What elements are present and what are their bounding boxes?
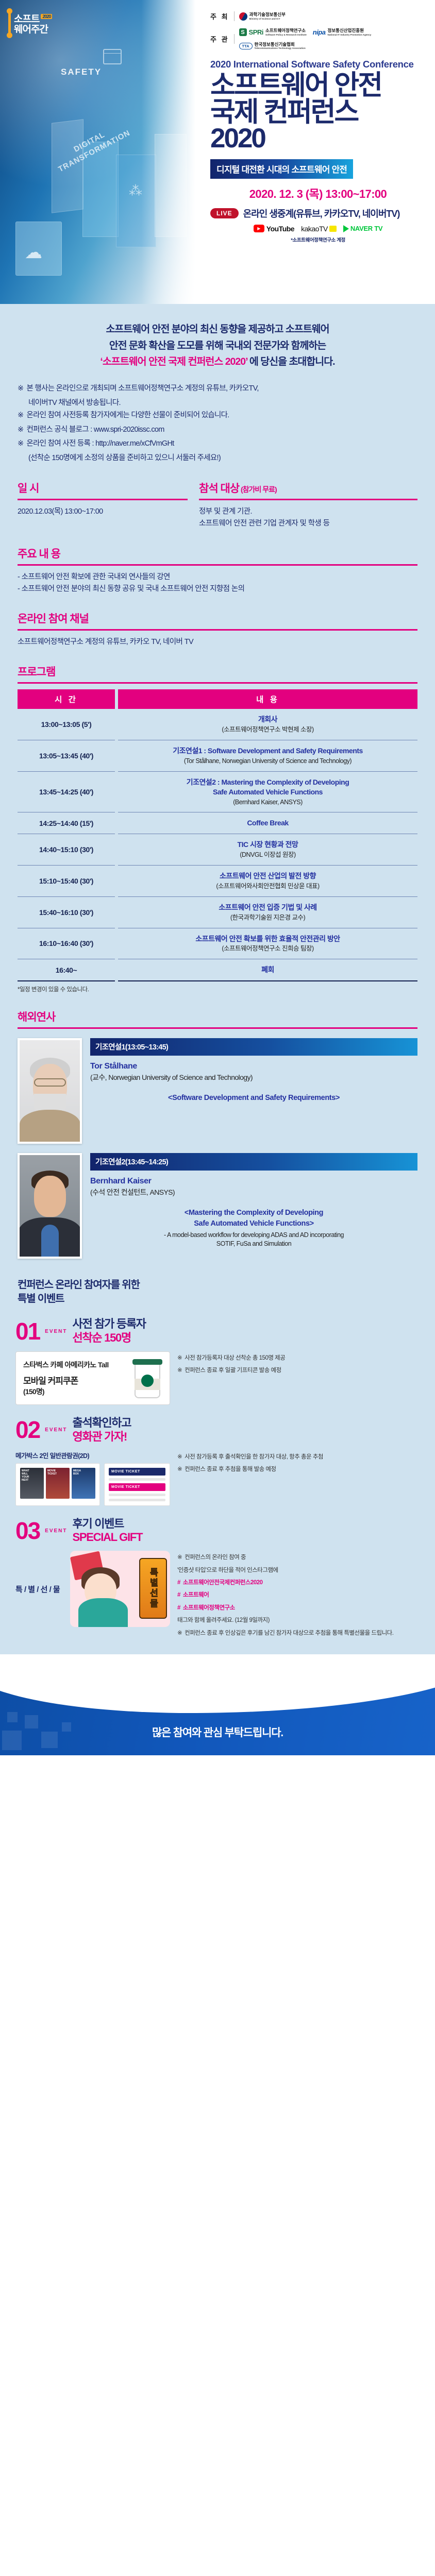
program-session-title: 기조연설1 : Software Development and Safety … [121,746,414,756]
host-logos: 과학기술정보통신부 Ministry of Science and ICT [239,12,286,21]
program-session-speaker: (소프트웨어정책연구소 진희승 팀장) [121,944,414,953]
footer-message: 많은 참여와 관심 부탁드립니다. [0,1724,435,1740]
host-label: 주 최 [210,11,235,21]
logo-spri: S SPRi 소프트웨어정책연구소 Software Policy & Rese… [239,28,307,36]
conference-poster: 소프트2020 웨어주간 SAFETY DIGITAL TRANSFORMATI… [0,0,435,1755]
logo-mosit-en: Ministry of Science and ICT [249,18,286,20]
program-time-cell: 13:05~13:45 (40') [18,740,116,771]
logo-nipa-ko: 정보통신산업진흥원 [328,28,372,33]
taegeuk-icon [239,12,247,21]
movie-poster-icon: MEGABOX [72,1468,95,1499]
note-text: 컨퍼런스 종료 후 인상깊은 후기를 남긴 참가자 대상으로 추첨을 통해 특별… [185,1629,393,1638]
logo-tta-ko: 한국정보통신기술협회 [255,42,306,47]
event-note: ※ 컨퍼런스 종료 후 인상깊은 후기를 남긴 참가자 대상으로 추첨을 통해 … [177,1629,420,1638]
logo-kakaotv[interactable]: kakaoTV [301,225,337,233]
event-heading: 출석확인하고 영화관 가자! [73,1416,131,1444]
event-heading-line-2: 선착순 150명 [73,1331,131,1344]
event-header: 03 EVENT 후기 이벤트 SPECIAL GIFT [15,1517,420,1545]
program-col-content: 내 용 [116,689,417,709]
event-note: 태그와 함께 올려주세요. (12월 9일까지) [177,1616,420,1625]
events-title: 컨퍼런스 온라인 참여자를 위한 특별 이벤트 [18,1278,417,1306]
intro-line-3: ‘소프트웨어 안전 국제 컨퍼런스 2020’ 에 당신을 초대합니다. [18,354,417,370]
navertv-label: NAVER TV [350,225,382,232]
note-mark: ※ [18,438,23,450]
conference-subtitle: 디지털 대전환 시대의 소프트웨어 안전 [210,159,353,179]
program-session-title: 소프트웨어 안전 입증 기법 및 사례 [121,903,414,912]
note-text: 온라인 참여 사전 등록 : http://naver.me/xCfVmGHt [26,438,174,450]
logo-navertv[interactable]: NAVER TV [343,225,382,232]
note-text: 온라인 참여 사전등록 참가자에게는 다양한 선물이 준비되어 있습니다. [26,410,229,422]
main-content-heading: 주요 내 용 [18,546,417,561]
conference-english-title: 2020 International Software Safety Confe… [210,59,426,70]
safety-badge: SAFETY [61,67,102,77]
note-mark: ※ [18,424,23,436]
program-content-cell: 개회사(소프트웨어정책연구소 박현제 소장) [116,709,417,740]
events-title-line-1: 컨퍼런스 온라인 참여자를 위한 [18,1279,140,1291]
section-rule [18,682,417,684]
logo-nipa-word: nipa [313,28,326,36]
datetime-block: 일 시 2020.12.03(목) 13:00~17:00 [18,480,188,530]
audience-line-1: 정부 및 관계 기관. [199,506,417,518]
speaker-name: Bernhard Kaiser [90,1177,417,1186]
logo-spri-word: SPRi [249,28,263,36]
highlight-rest: 에게 소정의 상품을 준비하고 있으니 서둘러 주세요!) [70,454,221,462]
event-visual: 특 / 별 / 선 / 물 특별선물 [15,1551,170,1627]
poster-row: WHATWILLYOURNEXT MOVIETICKET MEGABOX [20,1468,95,1499]
window-icon [103,49,122,64]
note-text: 컨퍼런스 종료 후 추첨을 통해 발송 예정 [185,1465,276,1474]
event-note: # 소프트웨어 [177,1590,420,1600]
events-title-line-2: 특별 이벤트 [18,1292,417,1306]
intro-line-2: 안전 문화 확산을 도모를 위해 국내외 전문가와 함께하는 [18,338,417,354]
program-content-cell: 기조연설2 : Mastering the Complexity of Deve… [116,771,417,812]
datetime-heading: 일 시 [18,480,188,496]
event-number: 03 [15,1521,40,1541]
table-row: 14:25~14:40 (15')Coffee Break [18,812,417,834]
program-session-speaker: (소프트웨어정책연구소 박현제 소장) [121,725,414,734]
tta-mark-icon: TTA [239,43,253,49]
cloud-icon: ☁ [25,242,42,263]
event-body: 스타벅스 카페 아메리카노 Tall 모바일 커피쿠폰 (150명) ※ 사전 [15,1351,420,1405]
note-text: 사전 참가등록자 대상 선착순 총 150명 제공 [185,1353,285,1363]
program-time-cell: 16:40~ [18,959,116,981]
gift-illustration: 특별선물 [70,1551,170,1627]
program-footnote: *일정 변경이 있을 수 있습니다. [18,985,417,993]
note-text: 컨퍼런스 종료 후 일괄 기프티콘 발송 예정 [185,1366,281,1375]
section-rule [18,564,417,566]
audience-block: 참석 대상 (참가비 무료) 정부 및 관계 기관. 소프트웨어 안전 관련 기… [199,480,417,530]
intro-line-1: 소프트웨어 안전 분야의 최신 동향을 제공하고 소프트웨어 [18,321,417,338]
program-time-cell: 15:10~15:40 (30') [18,866,116,897]
event-number: 02 [15,1420,40,1440]
live-broadcast-row: LIVE 온라인 생중계(유튜브, 카카오TV, 네이버TV) [210,207,426,220]
events-header: 컨퍼런스 온라인 참여자를 위한 특별 이벤트 [0,1259,435,1306]
naver-play-icon [343,225,349,232]
ticket-back: MOVIE TICKET MOVIE TICKET [104,1463,170,1506]
movie-tickets: WHATWILLYOURNEXT MOVIETICKET MEGABOX MOV… [15,1463,170,1506]
main-content-item: - 소프트웨어 안전 분야의 최신 동향 공유 및 국내 소프트웨어 안전 지향… [18,583,417,595]
software-week-label-2: 웨어주간 [14,25,52,35]
conference-date: 2020. 12. 3 (목) 13:00~17:00 [210,185,426,201]
section-rule [199,499,417,500]
organizer-label: 주 관 [210,34,235,44]
program-time-cell: 14:40~15:10 (30') [18,834,116,866]
channel-body: 소프트웨어정책연구소 계정의 유튜브, 카카오 TV, 네이버 TV [18,636,417,648]
intro-plain: 에 당신을 초대합니다. [247,356,335,367]
event-body: 특 / 별 / 선 / 물 특별선물 ※ 컨퍼 [15,1551,420,1641]
program-content-cell: 기조연설1 : Software Development and Safety … [116,740,417,771]
coupon-line-3: (150명) [23,1386,126,1397]
program-table-body: 13:00~13:05 (5')개회사(소프트웨어정책연구소 박현제 소장)13… [18,709,417,981]
program-content-cell: TIC 시장 현황과 전망(DNVGL 이장섭 원장) [116,834,417,866]
hashtag-mark: # [177,1603,180,1613]
event-note: '인증샷 타입'으로 하단을 적어 인스타그램에 [177,1566,420,1575]
program-content-cell: 폐회 [116,959,417,981]
event-badge-word: EVENT [45,1528,67,1534]
organizer-logos: S SPRi 소프트웨어정책연구소 Software Policy & Rese… [239,28,426,49]
event-notes: ※ 사전 참가등록자 대상 선착순 총 150명 제공 ※ 컨퍼런스 종료 후 … [177,1351,420,1379]
program-session-title: 폐회 [121,965,414,975]
speaker-affiliation: (교수, Norwegian University of Science and… [90,1072,417,1082]
gift-words: 특 / 별 / 선 / 물 [15,1551,65,1627]
note-subtext: 네이버TV 채널에서 방송됩니다. [28,397,417,410]
audience-line-2: 소프트웨어 안전 관련 기업 관계자 및 학생 등 [199,518,417,530]
speaker-card: 기조연설1(13:05~13:45) Tor Stålhane (교수, Nor… [18,1038,417,1144]
speaker-photo [18,1038,82,1144]
speaker-session-bar: 기조연설2(13:45~14:25) [90,1153,417,1171]
program-block: 프로그램 시 간 내 용 13:00~13:05 (5')개회사(소프트웨어정책… [0,648,435,993]
event-header: 02 EVENT 출석확인하고 영화관 가자! [15,1416,420,1444]
body-section: 소프트웨어 안전 분야의 최신 동향을 제공하고 소프트웨어 안전 문화 확산을… [0,304,435,1654]
hashtag-text: 소프트웨어정책연구소 [183,1603,235,1613]
gift-caption: 특 / 별 / 선 / 물 [15,1584,65,1595]
event-note: ※ 컨퍼런스의 온라인 참여 중 [177,1553,420,1562]
account-note: *소프트웨어정책연구소 계정 [210,236,426,243]
logo-mosit: 과학기술정보통신부 Ministry of Science and ICT [239,12,286,21]
program-session-title: 소프트웨어 안전 확보를 위한 효율적 안전관리 방안 [121,934,414,944]
program-time-cell: 13:00~13:05 (5') [18,709,116,740]
movie-poster-icon: WHATWILLYOURNEXT [20,1468,44,1499]
event-note: ※ 사전 참가등록 후 출석확인을 한 참가자 대상, 항추 총운 추첨 [177,1452,420,1462]
section-rule [18,1027,417,1029]
event-heading-line-2: SPECIAL GIFT [73,1531,143,1544]
note-mark: ※ [177,1465,182,1474]
event-visual: 스타벅스 카페 아메리카노 Tall 모바일 커피쿠폰 (150명) [15,1351,170,1405]
host-row: 주 최 과학기술정보통신부 Ministry of Science and IC… [210,11,426,21]
program-content-cell: Coffee Break [116,812,417,834]
event-heading-line-1: 출석확인하고 [73,1416,131,1429]
logo-spri-en: Software Policy & Research Institute [265,33,307,36]
event-badge: 02 [15,1420,40,1440]
event-notes: ※ 컨퍼런스의 온라인 참여 중 '인증샷 타입'으로 하단을 적어 인스타그램… [177,1551,420,1641]
event-badge: 01 [15,1321,40,1342]
hashtag-text: 소프트웨어안전국제컨퍼런스2020 [183,1578,263,1587]
event-heading: 후기 이벤트 SPECIAL GIFT [73,1517,143,1545]
note-item: ※ 본 행사는 온라인으로 개최되며 소프트웨어정책연구소 계정의 유튜브, 카… [18,383,417,395]
youtube-play-icon: ▶ [254,225,264,232]
logo-tta: TTA 한국정보통신기술협회 Telecommunications Techno… [239,42,306,49]
intro-accent: ‘소프트웨어 안전 국제 컨퍼런스 2020’ [100,356,247,367]
coupon-line-1: 스타벅스 카페 아메리카노 Tall [23,1360,126,1370]
intro-block: 소프트웨어 안전 분야의 최신 동향을 제공하고 소프트웨어 안전 문화 확산을… [0,304,435,370]
speaker-topic: <Software Development and Safety Require… [90,1093,417,1103]
table-row: 16:40~폐회 [18,959,417,981]
note-mark: ※ [18,410,23,422]
logo-mosit-ko: 과학기술정보통신부 [249,12,286,17]
speaker-affiliation: (수석 안전 컨설턴트, ANSYS) [90,1187,417,1197]
program-table: 시 간 내 용 13:00~13:05 (5')개회사(소프트웨어정책연구소 박… [18,689,417,981]
program-session-speaker: (Bernhard Kaiser, ANSYS) [121,798,414,807]
event-number: 01 [15,1321,40,1342]
ticket-stub: MOVIE TICKET [109,1468,165,1476]
title-line-1: 소프트웨어 안전 [210,72,426,98]
software-week-year: 2020 [41,14,52,19]
event-header: 01 EVENT 사전 참가 등록자 선착순 150명 [15,1317,420,1345]
speakers-block: 해외연사 기조연설1(13:05~13:45) Tor Stålhane (교수… [0,993,435,1259]
program-time-cell: 16:10~16:40 (30') [18,928,116,959]
table-row: 14:40~15:10 (30')TIC 시장 현황과 전망(DNVGL 이장섭… [18,834,417,866]
art-tile [116,155,156,247]
spri-mark-icon: S [239,28,247,36]
event-card-1: 01 EVENT 사전 참가 등록자 선착순 150명 스타벅스 카페 아메리카… [0,1306,435,1405]
note-text: 컨퍼런스의 온라인 참여 중 [185,1553,246,1562]
software-week-label-1: 소프트2020 [14,14,52,25]
coupon-text: 스타벅스 카페 아메리카노 Tall 모바일 커피쿠폰 (150명) [23,1360,126,1397]
event-heading-line-1: 사전 참가 등록자 [73,1317,146,1330]
note-text: 컨퍼런스 공식 블로그 : www.spri-2020issc.com [26,424,164,436]
note-highlight: (선착순 150명에게 소정의 상품을 준비하고 있으니 서둘러 주세요!) [28,452,417,465]
speaker-note: - A model-based workflow for developing … [90,1231,417,1249]
event-heading-line-1: 후기 이벤트 [73,1517,124,1530]
ticket-front: WHATWILLYOURNEXT MOVIETICKET MEGABOX [15,1463,100,1506]
program-session-title: 개회사 [121,715,414,724]
table-row: 13:45~14:25 (40')기조연설2 : Mastering the C… [18,771,417,812]
hero-section: 소프트2020 웨어주간 SAFETY DIGITAL TRANSFORMATI… [0,0,435,304]
coupon-line-2: 모바일 커피쿠폰 [23,1374,126,1386]
note-item: ※ 온라인 참여 사전 등록 : http://naver.me/xCfVmGH… [18,438,417,450]
avatar [20,1040,80,1142]
program-content-cell: 소프트웨어 안전 산업의 발전 방향(소프트웨어와사회안전협회 민상윤 대표) [116,866,417,897]
datetime-body: 2020.12.03(목) 13:00~17:00 [18,506,188,518]
table-row: 16:10~16:40 (30')소프트웨어 안전 확보를 위한 효율적 안전관… [18,928,417,959]
note-mark: ※ [177,1629,182,1638]
table-row: 13:05~13:45 (40')기조연설1 : Software Develo… [18,740,417,771]
hashtag-mark: # [177,1578,180,1587]
gift-box-icon: 특별선물 [139,1558,167,1619]
software-week-logo: 소프트2020 웨어주간 [8,11,52,35]
notes-block: ※ 본 행사는 온라인으로 개최되며 소프트웨어정책연구소 계정의 유튜브, 카… [0,370,435,465]
audience-heading-main: 참석 대상 [199,483,239,495]
note-item: ※ 컨퍼런스 공식 블로그 : www.spri-2020issc.com [18,424,417,436]
main-content-item: - 소프트웨어 안전 확보에 관한 국내외 연사들의 강연 [18,571,417,583]
starbucks-coupon-card: 스타벅스 카페 아메리카노 Tall 모바일 커피쿠폰 (150명) [15,1351,170,1405]
program-time-cell: 13:45~14:25 (40') [18,771,116,812]
live-text: 온라인 생중계(유튜브, 카카오TV, 네이버TV) [243,207,400,220]
event-note: ※ 컨퍼런스 종료 후 일괄 기프티콘 발송 예정 [177,1366,420,1375]
program-heading: 프로그램 [18,664,417,679]
section-rule [18,499,188,500]
kakao-speech-icon [329,226,337,232]
program-session-speaker: (소프트웨어와사회안전협회 민상윤 대표) [121,882,414,891]
note-text: 태그와 함께 올려주세요. (12월 9일까지) [177,1616,270,1625]
event-body: 메가박스 2인 일반관람권(2D) WHATWILLYOURNEXT MOVIE… [15,1450,420,1506]
program-content-cell: 소프트웨어 안전 입증 기법 및 사례(한국과학기술원 지은경 교수) [116,896,417,928]
program-session-title: Coffee Break [121,818,414,828]
live-badge: LIVE [210,208,239,218]
platform-logos: ▶ YouTube kakaoTV NAVER TV [210,225,426,233]
event-heading: 사전 참가 등록자 선착순 150명 [73,1317,146,1345]
main-content-block: 주요 내 용 - 소프트웨어 안전 확보에 관한 국내외 연사들의 강연 - 소… [0,530,435,595]
program-time-cell: 15:40~16:10 (30') [18,896,116,928]
hero-content: 주 최 과학기술정보통신부 Ministry of Science and IC… [202,0,435,304]
channel-heading: 온라인 참여 채널 [18,611,417,626]
event-notes: ※ 사전 참가등록 후 출석확인을 한 참가자 대상, 항추 총운 추첨 ※ 컨… [177,1450,420,1478]
note-mark: ※ [177,1353,182,1363]
speaker-card: 기조연설2(13:45~14:25) Bernhard Kaiser (수석 안… [18,1153,417,1259]
event-card-2: 02 EVENT 출석확인하고 영화관 가자! 메가박스 2인 일반관람권(2D… [0,1405,435,1506]
event-card-3: 03 EVENT 후기 이벤트 SPECIAL GIFT 특 / 별 / 선 /… [0,1506,435,1654]
note-mark: ※ [177,1452,182,1462]
gift-visual: 특 / 별 / 선 / 물 특별선물 [15,1551,170,1627]
movie-poster-icon: MOVIETICKET [46,1468,70,1499]
program-session-speaker: (DNVGL 이장섭 원장) [121,851,414,859]
hero-artwork: 소프트2020 웨어주간 SAFETY DIGITAL TRANSFORMATI… [0,0,202,304]
program-col-time: 시 간 [18,689,116,709]
speaker-info: 기조연설2(13:45~14:25) Bernhard Kaiser (수석 안… [90,1153,417,1259]
logo-spri-ko: 소프트웨어정책연구소 [265,28,307,33]
program-session-title: TIC 시장 현황과 전망 [121,840,414,850]
note-mark: ※ [18,383,23,395]
logo-nipa: nipa 정보통신산업진흥원 National IT Industry Prom… [313,28,372,36]
hashtag-text: 소프트웨어 [183,1590,209,1600]
note-text: 사전 참가등록 후 출석확인을 한 참가자 대상, 항추 총운 추첨 [185,1452,323,1462]
speaker-topic: <Mastering the Complexity of Developing … [90,1208,417,1229]
event-note: # 소프트웨어정책연구소 [177,1603,420,1613]
event-note: # 소프트웨어안전국제컨퍼런스2020 [177,1578,420,1587]
ticket-stub: MOVIE TICKET [109,1483,165,1491]
avatar [20,1155,80,1257]
organizer-row: 주 관 S SPRi 소프트웨어정책연구소 Software Policy & … [210,28,426,49]
note-text: '인증샷 타입'으로 하단을 적어 인스타그램에 [177,1566,278,1575]
speaker-info: 기조연설1(13:05~13:45) Tor Stålhane (교수, Nor… [90,1038,417,1144]
event-badge-word: EVENT [45,1427,67,1433]
program-session-title: 기조연설2 : Mastering the Complexity of Deve… [121,777,414,797]
program-table-head: 시 간 내 용 [18,689,417,709]
note-mark: ※ [177,1366,182,1375]
hashtag-mark: # [177,1590,180,1600]
youtube-label: YouTube [266,225,294,233]
program-content-cell: 소프트웨어 안전 확보를 위한 효율적 안전관리 방안(소프트웨어정책연구소 진… [116,928,417,959]
ticket-caption: 메가박스 2인 일반관람권(2D) [15,1450,170,1460]
program-session-title: 소프트웨어 안전 산업의 발전 방향 [121,871,414,881]
speaker-name: Tor Stålhane [90,1062,417,1071]
coffee-cup-icon [132,1358,162,1398]
program-header-row: 시 간 내 용 [18,689,417,709]
program-session-speaker: (한국과학기술원 지은경 교수) [121,913,414,922]
note-text: 본 행사는 온라인으로 개최되며 소프트웨어정책연구소 계정의 유튜브, 카카오… [26,383,258,395]
title-line-2: 국제 컨퍼런스 [210,99,426,125]
event-badge: 03 [15,1521,40,1541]
footer-section: 많은 참여와 관심 부탁드립니다. [0,1654,435,1755]
note-mark: ※ [177,1553,182,1562]
event-visual: 메가박스 2인 일반관람권(2D) WHATWILLYOURNEXT MOVIE… [15,1450,170,1506]
table-row: 15:10~15:40 (30')소프트웨어 안전 산업의 발전 방향(소프트웨… [18,866,417,897]
conference-title: 소프트웨어 안전 국제 컨퍼런스 2020 [210,72,426,151]
logo-tta-en: Telecommunications Technology Associatio… [255,47,306,49]
speakers-heading: 해외연사 [18,1009,417,1024]
table-row: 13:00~13:05 (5')개회사(소프트웨어정책연구소 박현제 소장) [18,709,417,740]
event-badge-word: EVENT [45,1329,67,1334]
channel-block: 온라인 참여 채널 소프트웨어정책연구소 계정의 유튜브, 카카오 TV, 네이… [0,595,435,648]
program-time-cell: 14:25~14:40 (15') [18,812,116,834]
info-grid: 일 시 2020.12.03(목) 13:00~17:00 참석 대상 (참가비… [0,465,435,530]
section-rule [18,629,417,631]
audience-heading: 참석 대상 (참가비 무료) [199,480,417,496]
speaker-photo [18,1153,82,1259]
program-session-speaker: (Tor Stålhane, Norwegian University of S… [121,757,414,766]
event-note: ※ 사전 참가등록자 대상 선착순 총 150명 제공 [177,1353,420,1363]
logo-nipa-en: National IT Industry Promotion Agency [328,33,372,36]
table-row: 15:40~16:10 (30')소프트웨어 안전 입증 기법 및 사례(한국과… [18,896,417,928]
highlight-bold: 선착순 150명 [30,454,70,462]
audience-heading-small: (참가비 무료) [239,485,277,494]
note-item: ※ 온라인 참여 사전등록 참가자에게는 다양한 선물이 준비되어 있습니다. [18,410,417,422]
logo-youtube[interactable]: ▶ YouTube [254,225,294,233]
art-tile [155,134,187,237]
title-line-3: 2020 [210,125,426,151]
network-node-icon: ⁂ [129,183,142,199]
event-heading-line-2: 영화관 가자! [73,1430,127,1443]
kakaotv-label: kakaoTV [301,225,328,233]
event-note: ※ 컨퍼런스 종료 후 추첨을 통해 발송 예정 [177,1465,420,1474]
speaker-session-bar: 기조연설1(13:05~13:45) [90,1038,417,1056]
